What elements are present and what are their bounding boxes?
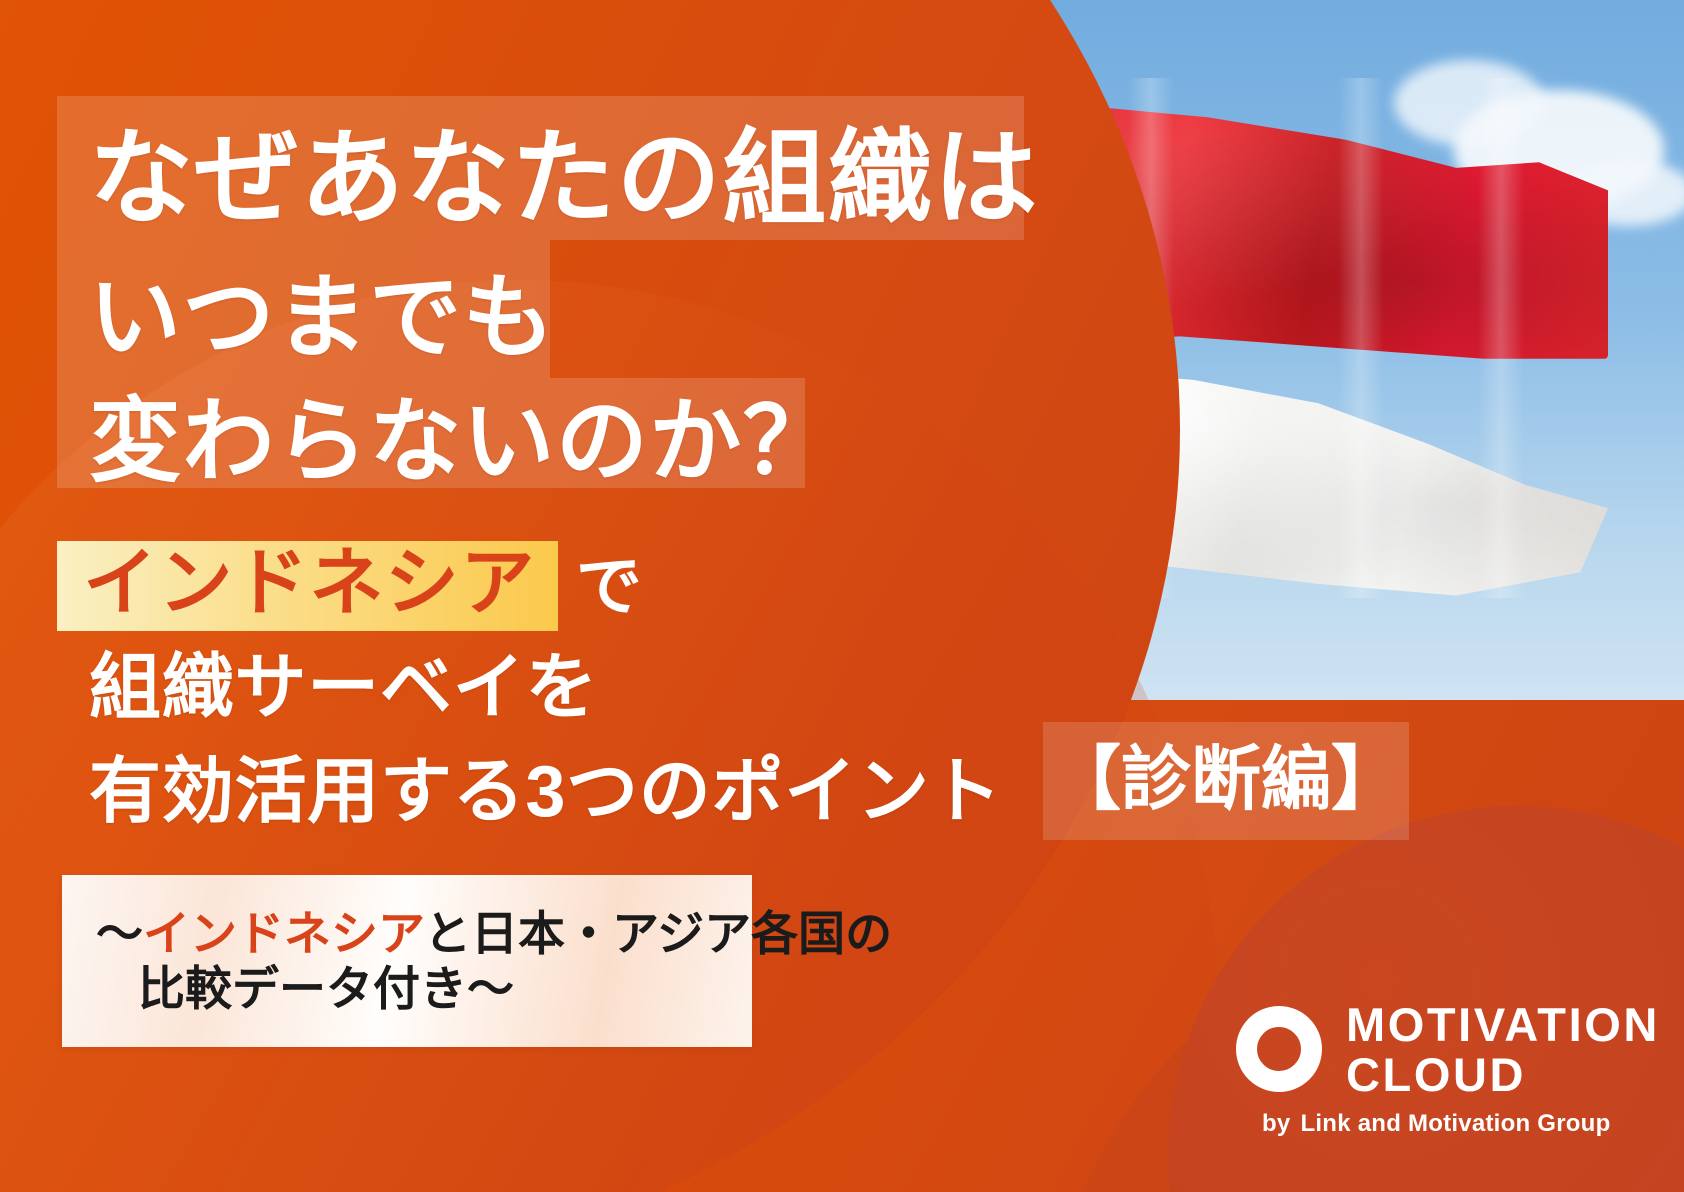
subheadline-line-1: インドネシア で xyxy=(57,538,1037,634)
flag-fold xyxy=(1478,78,1524,598)
banner-canvas: なぜあなたの組織は いつまでも 変わらないのか？ インドネシア で 組織サーベイ… xyxy=(0,0,1684,1192)
caption-line-1: 〜インドネシアと日本・アジア各国の xyxy=(62,906,752,961)
subheadline-line-2: 組織サーベイを xyxy=(57,640,1037,736)
shindan-badge-label: 【診断編】 xyxy=(1051,744,1401,814)
caption-line-1-rest: と日本・アジア各国の xyxy=(424,907,892,960)
headline-band-3: 変わらないのか？ xyxy=(57,378,805,488)
headline-line-3: 変わらないのか？ xyxy=(57,367,836,500)
shindan-badge: 【診断編】 xyxy=(1043,722,1409,840)
subheadline-line-3-text: 有効活用する3つのポイント xyxy=(57,756,1002,828)
subheadline-line-2-text: 組織サーベイを xyxy=(57,652,598,724)
headline-line-1: なぜあなたの組織は xyxy=(57,93,1039,244)
subheadline-block: インドネシア で 組織サーベイを 有効活用する3つのポイント xyxy=(57,538,1037,840)
ring-icon xyxy=(1236,1006,1322,1092)
caption-line-2: 比較データ付き〜 xyxy=(62,961,752,1016)
caption-indonesia-highlight: インドネシア xyxy=(143,907,424,960)
motivation-cloud-logo: MOTIVATION CLOUD xyxy=(1236,1000,1660,1100)
logo-byline-company: Link and Motivation Group xyxy=(1301,1110,1611,1137)
headline-band-1: なぜあなたの組織は xyxy=(57,96,1024,240)
logo-wordmark: MOTIVATION CLOUD xyxy=(1346,1000,1660,1100)
indonesia-highlight: インドネシア xyxy=(57,541,558,631)
logo-name-line-2: CLOUD xyxy=(1346,1050,1660,1100)
caption-box: 〜インドネシアと日本・アジア各国の 比較データ付き〜 xyxy=(62,875,752,1047)
headline-line-2: いつまでも xyxy=(57,243,556,376)
logo-byline: byLink and Motivation Group xyxy=(1262,1110,1610,1138)
caption-prefix: 〜 xyxy=(96,907,143,960)
subheadline-line-3: 有効活用する3つのポイント xyxy=(57,744,1037,840)
flag-fold xyxy=(1338,78,1384,598)
logo-name-line-1: MOTIVATION xyxy=(1346,1000,1660,1050)
subheadline-particle: で xyxy=(576,553,642,619)
headline-band-2: いつまでも xyxy=(57,240,550,378)
logo-byline-label: by xyxy=(1262,1110,1291,1137)
